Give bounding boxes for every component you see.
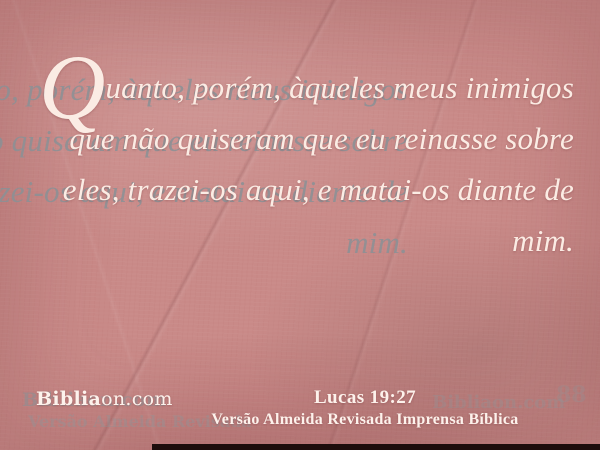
bible-version: Versão Almeida Revisada Imprensa Bíblica — [150, 409, 580, 431]
bottom-bar — [152, 444, 600, 450]
verse-reference: Lucas 19:27 — [150, 386, 580, 409]
logo-primary-text: Biblia — [36, 388, 101, 410]
verse-line-1: uanto, porém, àqueles meus — [105, 70, 457, 105]
verse-text: Quanto, porém, àqueles meus inimigos que… — [30, 62, 574, 266]
reference-block: Lucas 19:27 Versão Almeida Revisada Impr… — [150, 386, 580, 431]
verse-card: Quanto, porém, àqueles meus inimigos que… — [0, 0, 600, 450]
verse-line-4: matai-os diante de mim. — [340, 172, 574, 258]
verse-block: Quanto, porém, àqueles meus inimigos que… — [0, 62, 600, 266]
